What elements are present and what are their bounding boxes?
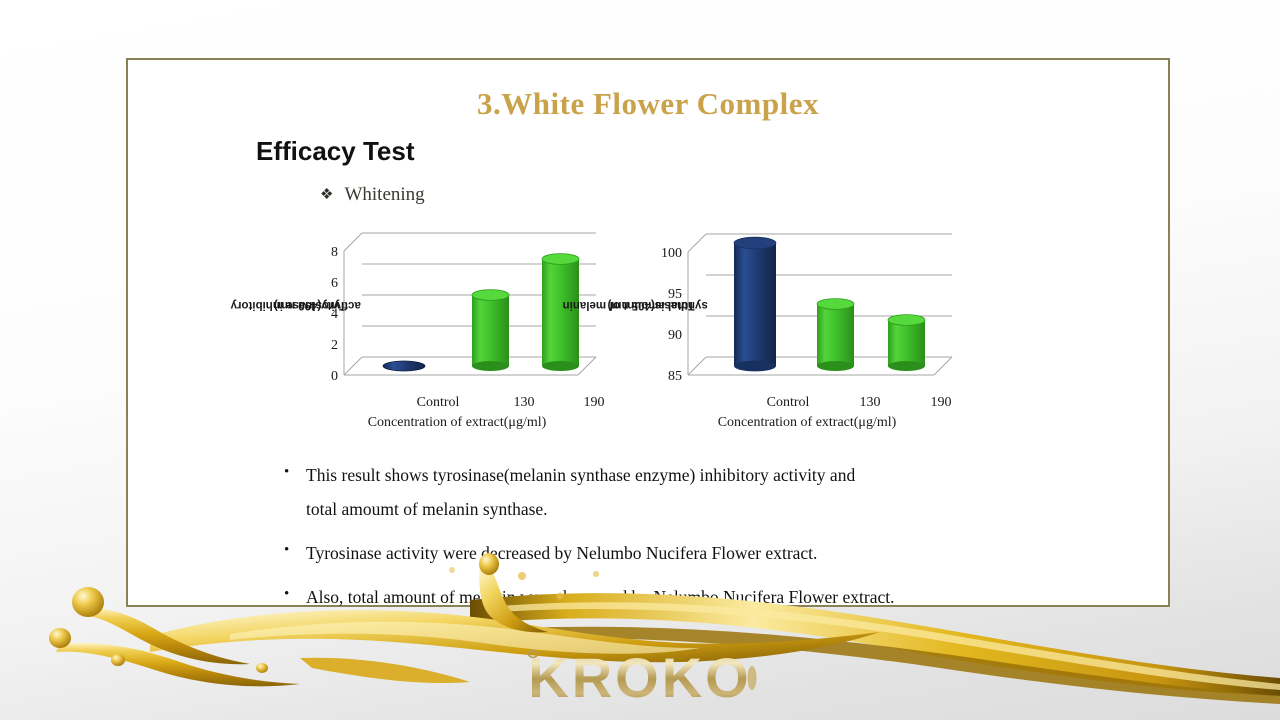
page-title: 3.White Flower Complex xyxy=(128,86,1168,122)
chart-left-y-axis-title: Tyrosinase inhibitory activity(490 nm) xyxy=(286,225,320,385)
chart-right-x-axis-title: Concentration of extract(μg/ml) xyxy=(648,415,966,431)
slide-frame: 3.White Flower Complex Efficacy Test ❖ W… xyxy=(126,58,1170,607)
sub-bullet: ❖ Whitening xyxy=(320,184,425,206)
chart-right-xtick-control: Control xyxy=(767,395,810,411)
diamond-bullet-icon: ❖ xyxy=(320,188,333,203)
chart-right-x-tick-labels: Control 130 190 xyxy=(660,395,966,415)
chart-left-xtick-130: 130 xyxy=(514,395,535,411)
chart-left-ytick-8: 8 xyxy=(331,245,338,260)
bullet-list: • This result shows tyrosinase(melanin s… xyxy=(278,458,1178,625)
chart-left-xtick-control: Control xyxy=(417,395,460,411)
chart-left-ytick-0: 0 xyxy=(331,369,338,384)
bullet-text-line2: total amoumt of melanin synthase. xyxy=(306,492,1178,526)
bullet-text-line1: Also, total amount of melanin were decre… xyxy=(306,587,894,607)
kroko-logo-text: KROKO xyxy=(528,646,751,709)
chart-left-x-tick-labels: Control 130 190 xyxy=(320,395,606,415)
chart-total-melanin-synthesis: Total amount of melanin synthesis(405 nm… xyxy=(626,225,966,437)
kroko-logo: KROKO xyxy=(0,645,1280,711)
chart-right-xtick-130: 130 xyxy=(860,395,881,411)
kroko-logo-wordmark: KROKO xyxy=(490,645,790,711)
bullet-item: • Tyrosinase activity were decreased by … xyxy=(278,536,1178,570)
chart-right-ytick-90: 90 xyxy=(668,328,682,343)
charts-row: Tyrosinase inhibitory activity(490 nm) xyxy=(278,225,1118,437)
chart-right-plot: 85 90 95 100 xyxy=(660,225,966,397)
bullet-text-line1: Tyrosinase activity were decreased by Ne… xyxy=(306,543,817,563)
slide-stage: 3.White Flower Complex Efficacy Test ❖ W… xyxy=(0,0,1280,720)
kroko-logo-leaf-icon xyxy=(748,666,757,690)
chart-left-xtick-190: 190 xyxy=(584,395,605,411)
bullet-marker-icon: • xyxy=(284,580,289,609)
chart-right-y-axis-title: Total amount of melanin synthesis(405 nm… xyxy=(626,225,660,385)
bullet-item: • This result shows tyrosinase(melanin s… xyxy=(278,458,1178,526)
chart-left-ytick-2: 2 xyxy=(331,338,338,353)
chart-right-ytick-100: 100 xyxy=(661,246,682,261)
sub-bullet-label: Whitening xyxy=(344,184,424,206)
section-heading: Efficacy Test xyxy=(256,136,414,167)
chart-tyrosinase-inhibitory-activity: Tyrosinase inhibitory activity(490 nm) xyxy=(286,225,606,437)
bullet-text-line1: This result shows tyrosinase(melanin syn… xyxy=(306,465,855,485)
chart-left-x-axis-title: Concentration of extract(μg/ml) xyxy=(308,415,606,431)
chart-right-ytick-95: 95 xyxy=(668,287,682,302)
chart-right-xtick-190: 190 xyxy=(931,395,952,411)
bullet-marker-icon: • xyxy=(284,536,289,565)
bullet-marker-icon: • xyxy=(284,458,289,487)
chart-left-ytick-6: 6 xyxy=(331,276,338,291)
bullet-item: • Also, total amount of melanin were dec… xyxy=(278,580,1178,614)
chart-right-ytick-85: 85 xyxy=(668,369,682,384)
chart-left-ytick-4: 4 xyxy=(331,307,338,322)
